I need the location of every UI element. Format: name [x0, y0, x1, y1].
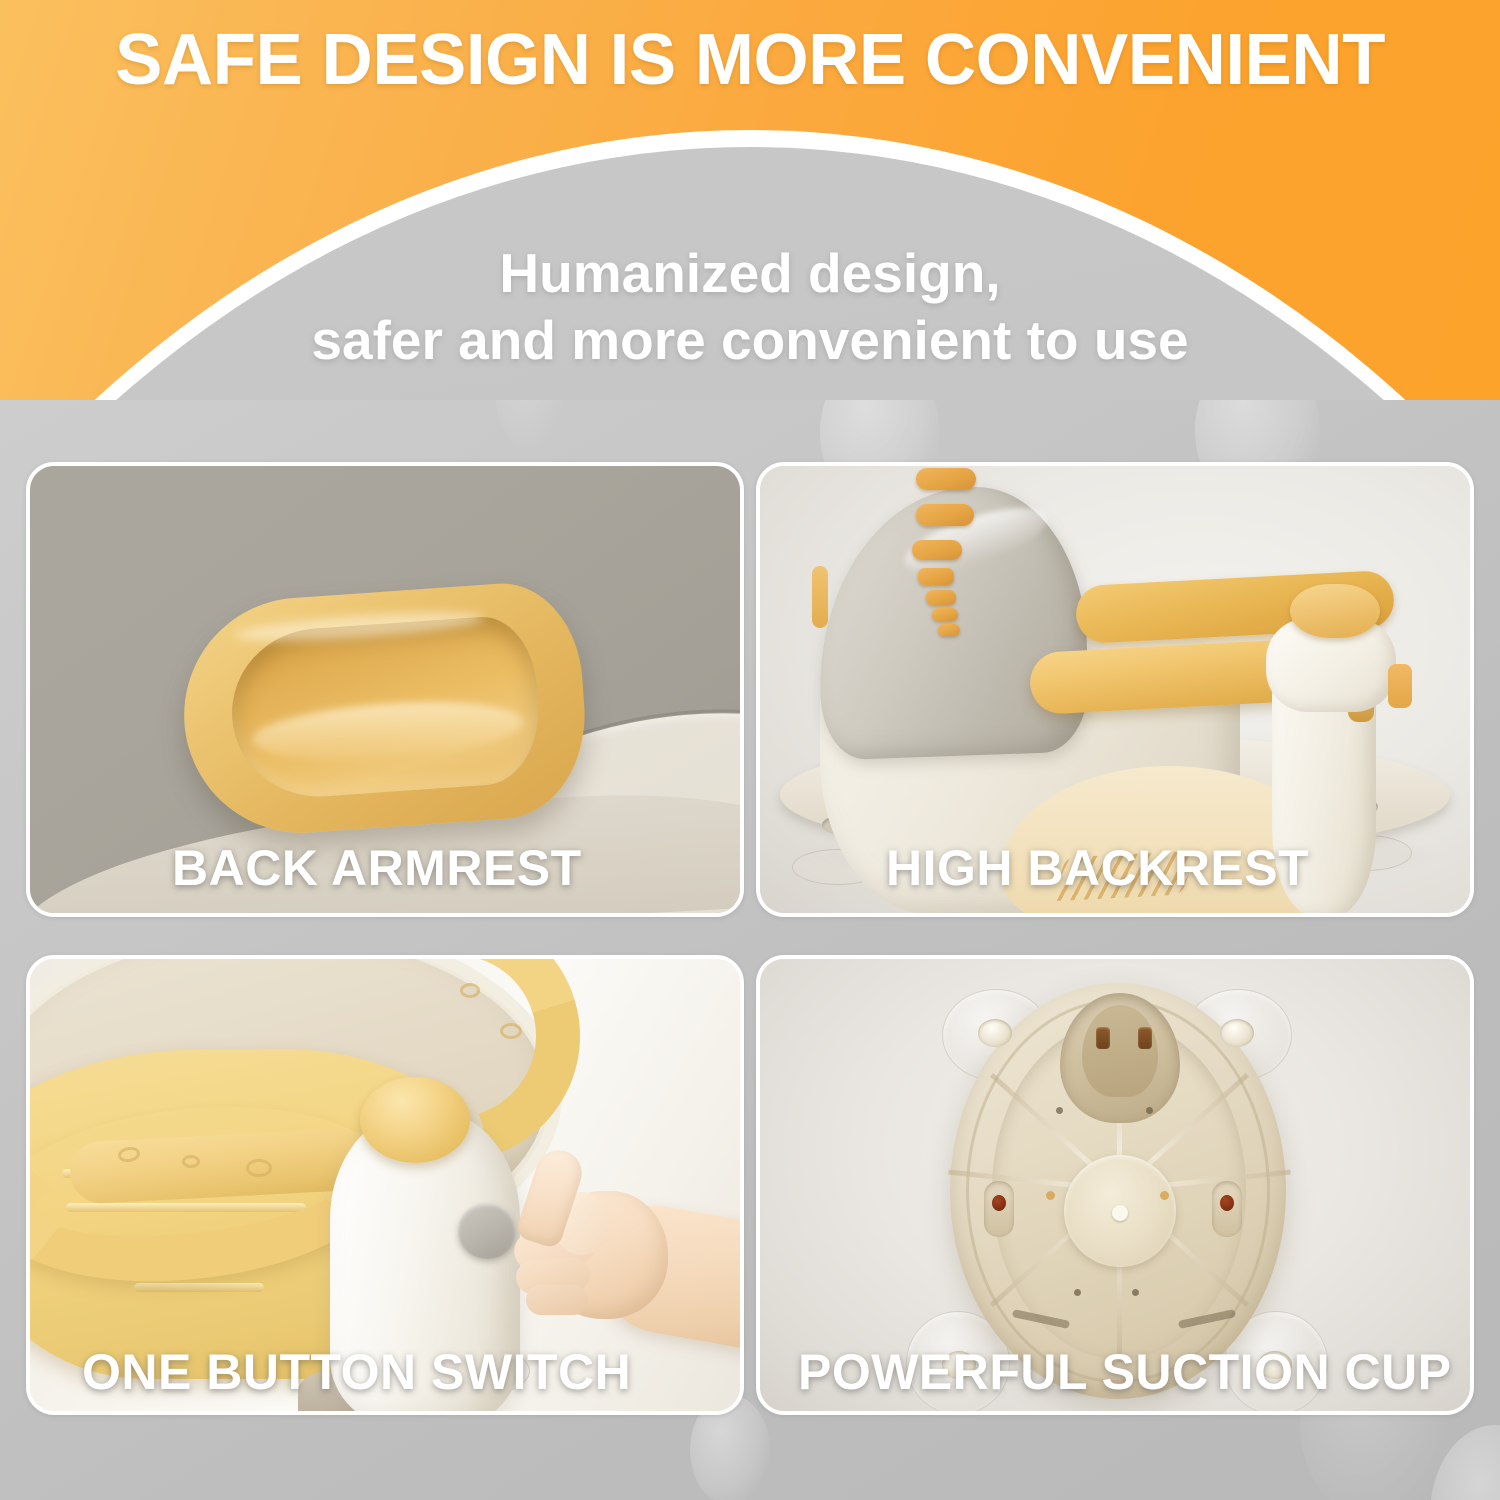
page-subtitle: Humanized design, safer and more conveni…	[0, 240, 1500, 374]
mount-screw-left	[1096, 1027, 1110, 1049]
infographic-canvas: SAFE DESIGN IS MORE CONVENIENT Humanized…	[0, 0, 1500, 1500]
feature-panel-powerful-suction-cup[interactable]: POWERFUL SUCTION CUP	[756, 955, 1474, 1415]
mount-screw-right	[1138, 1027, 1152, 1049]
side-screw-left	[992, 1195, 1006, 1211]
little-finger	[526, 1285, 588, 1315]
base-pin-mark	[1056, 1107, 1063, 1114]
base-amber-mark	[1160, 1191, 1169, 1200]
panel-label-back-armrest: BACK ARMREST	[30, 839, 740, 897]
panel-label-high-backrest: HIGH BACKREST	[760, 839, 1470, 897]
dome-cap	[360, 1077, 470, 1163]
armrest-emboss	[500, 1023, 522, 1039]
backrest-mount-inner	[1082, 1005, 1158, 1097]
page-title: SAFE DESIGN IS MORE CONVENIENT	[11, 24, 1489, 96]
feature-panel-grid: BACK ARMREST	[26, 462, 1474, 1415]
base-pin-mark	[1132, 1289, 1139, 1296]
base-center-dot	[1112, 1205, 1128, 1221]
backrest-adjust-rung	[916, 468, 976, 490]
base-amber-mark	[1046, 1191, 1055, 1200]
backrest-adjust-rung	[918, 568, 954, 585]
backrest-adjust-rung	[912, 540, 962, 560]
subtitle-line-1: Humanized design,	[0, 240, 1500, 307]
base-pin-mark	[1074, 1289, 1081, 1296]
feature-panel-high-backrest[interactable]: HIGH BACKREST	[756, 462, 1474, 917]
suction-cup-nub	[1220, 1019, 1254, 1047]
side-screw-right	[1220, 1195, 1234, 1211]
backrest-adjust-rung	[938, 624, 960, 636]
backrest-adjust-rung	[916, 504, 974, 526]
armrest-knob	[1290, 584, 1380, 638]
armrest-emboss	[182, 1155, 200, 1168]
panel-label-one-button-switch: ONE BUTTON SWITCH	[30, 1343, 740, 1401]
seat-grip-line	[134, 1283, 264, 1292]
backrest-adjust-rung	[932, 608, 958, 621]
feature-panel-one-button-switch[interactable]: ONE BUTTON SWITCH	[26, 955, 744, 1415]
armrest-emboss	[246, 1159, 272, 1177]
panel-label-powerful-suction-cup: POWERFUL SUCTION CUP	[760, 1343, 1470, 1401]
subtitle-line-2: safer and more convenient to use	[0, 307, 1500, 374]
armrest-side-button	[1388, 664, 1412, 708]
backrest-side-tab	[812, 566, 828, 628]
armrest-handle-outer	[176, 578, 591, 840]
base-pin-mark	[1146, 1107, 1153, 1114]
armrest-emboss	[460, 983, 480, 998]
suction-cup-nub	[978, 1019, 1012, 1047]
feature-panel-back-armrest[interactable]: BACK ARMREST	[26, 462, 744, 917]
backrest-adjust-rung	[926, 590, 956, 605]
